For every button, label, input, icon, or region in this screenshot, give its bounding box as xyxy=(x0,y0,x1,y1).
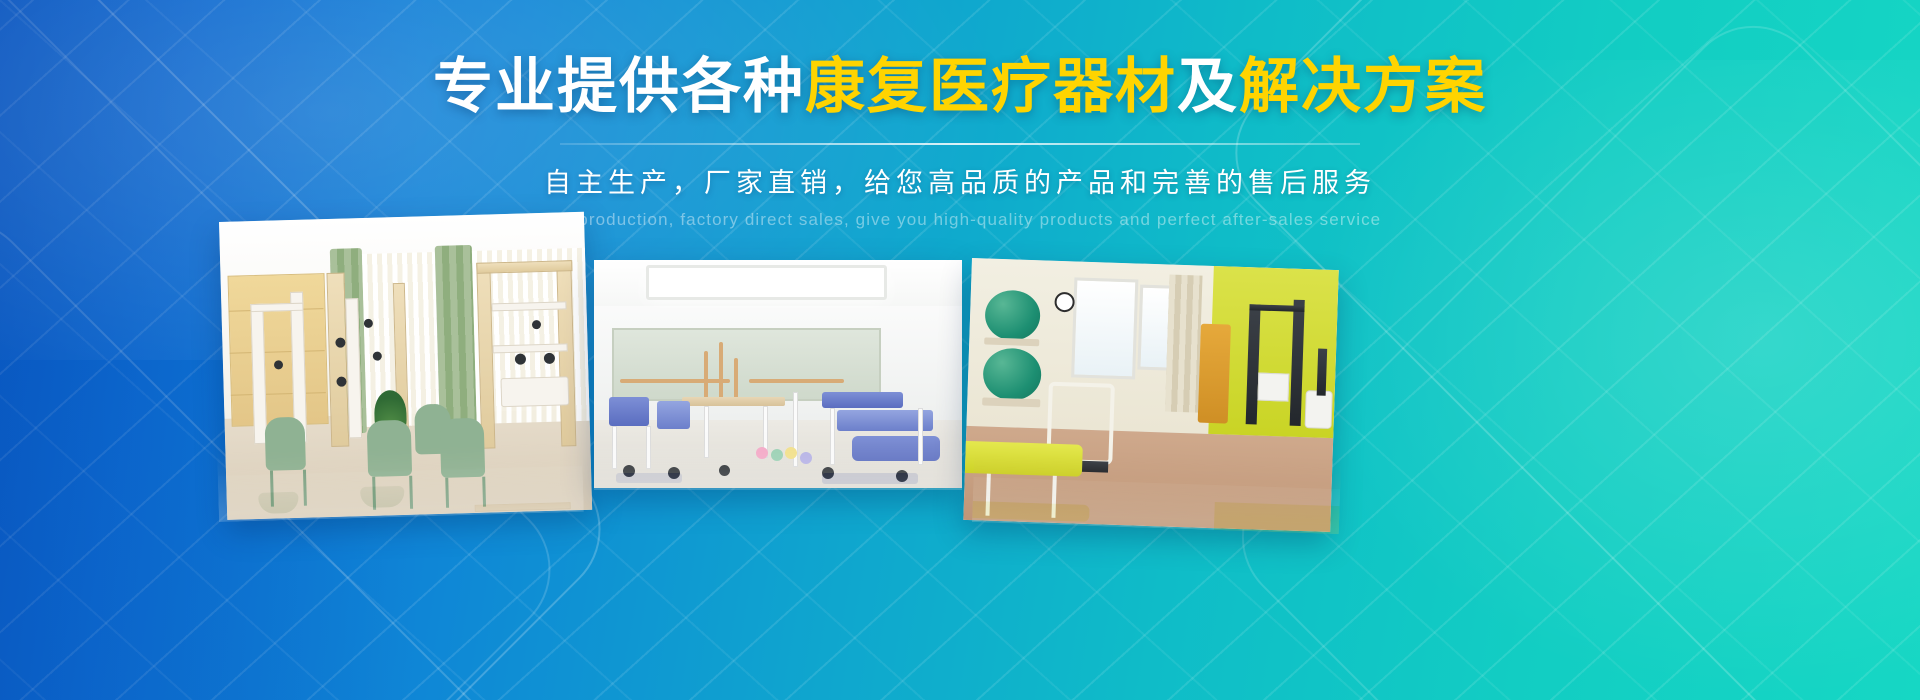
photo-therapy-hall[interactable] xyxy=(594,260,962,488)
headline-segment-1: 专业提供各种 xyxy=(433,52,805,122)
headline-divider xyxy=(560,143,1360,145)
banner-text-block: 专业提供各种康复医疗器材及解决方案 自主生产，厂家直销，给您高品质的产品和完善的… xyxy=(0,56,1920,230)
scene-right xyxy=(963,258,1338,532)
banner-subtitle-english: Self production, factory direct sales, g… xyxy=(0,210,1920,230)
scene-middle xyxy=(594,260,962,488)
banner-headline: 专业提供各种康复医疗器材及解决方案 xyxy=(0,56,1920,119)
scene-left xyxy=(219,212,592,520)
photo-rehab-training-room[interactable] xyxy=(219,212,592,520)
photo-equipment-room[interactable] xyxy=(963,258,1338,532)
headline-segment-4: 解决方案 xyxy=(1239,52,1487,122)
headline-segment-3: 及 xyxy=(1177,52,1239,122)
banner-subtitle-chinese: 自主生产，厂家直销，给您高品质的产品和完善的售后服务 xyxy=(0,161,1920,200)
promo-banner: 专业提供各种康复医疗器材及解决方案 自主生产，厂家直销，给您高品质的产品和完善的… xyxy=(0,0,1920,700)
headline-segment-2: 康复医疗器材 xyxy=(805,52,1177,122)
